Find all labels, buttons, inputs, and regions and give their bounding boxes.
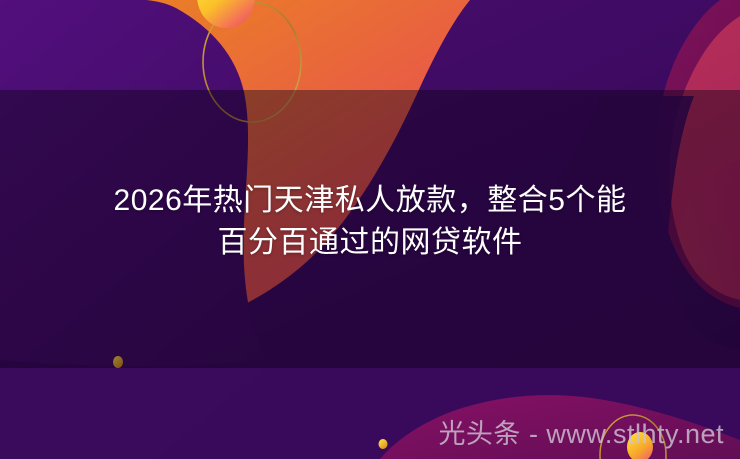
promo-banner: 2026年热门天津私人放款，整合5个能 百分百通过的网贷软件 光头条 - www… xyxy=(0,0,740,459)
gold-dot-mid xyxy=(379,439,388,449)
page-title: 2026年热门天津私人放款，整合5个能 百分百通过的网贷软件 xyxy=(22,180,718,264)
title-block: 2026年热门天津私人放款，整合5个能 百分百通过的网贷软件 xyxy=(0,180,740,264)
site-watermark: 光头条 - www.stlhty.net xyxy=(438,417,724,451)
gold-dot-left xyxy=(113,356,123,368)
